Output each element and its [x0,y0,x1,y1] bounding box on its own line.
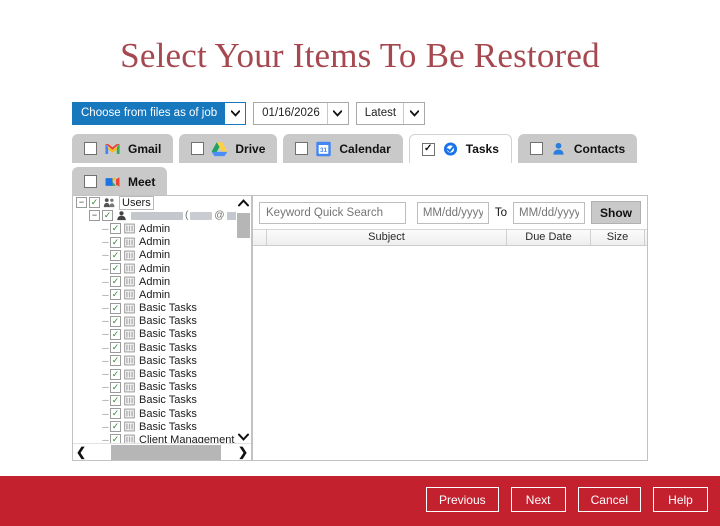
tree-connector-icon: ─ [101,316,110,326]
tree-item-checkbox[interactable]: ✓ [110,329,121,340]
task-list-icon [124,289,135,300]
tree-connector-icon: ─ [101,277,110,287]
tab-contacts-label: Contacts [574,142,625,156]
task-list-icon [124,369,135,380]
search-input[interactable] [259,202,406,224]
service-tabs-row-1: Gmail Drive 31 Calendar [72,134,652,163]
tree-item-label: Admin [139,276,170,288]
tree-connector-icon: ─ [101,409,110,419]
scroll-left-icon[interactable]: ❮ [73,445,89,459]
filter-bar: To Show [253,196,647,229]
tree-connector-icon: ─ [101,329,110,339]
tasks-icon [442,141,459,157]
next-button[interactable]: Next [511,487,566,512]
tree-item[interactable]: ─✓Basic Tasks [73,302,239,315]
tree-item-checkbox[interactable]: ✓ [110,395,121,406]
tree-children: ─✓Admin─✓Admin─✓Admin─✓Admin─✓Admin─✓Adm… [73,222,239,444]
tree-connector-icon: ─ [101,290,110,300]
items-list-panel: To Show Subject Due Date Size [252,195,648,461]
scroll-down-icon[interactable] [236,430,250,444]
tree-connector-icon: ─ [101,422,110,432]
tree-connector-icon: ─ [101,369,110,379]
tree-connector-icon: ─ [101,224,110,234]
show-button[interactable]: Show [591,201,641,224]
tree-connector-icon: ─ [101,264,110,274]
tab-meet[interactable]: Meet [72,167,167,196]
hscroll-track[interactable] [89,445,235,460]
tab-contacts-checkbox[interactable] [530,142,543,155]
hscroll-thumb[interactable] [111,445,221,460]
contacts-icon [550,141,567,157]
version-value: Latest [357,103,403,124]
tab-gmail-label: Gmail [128,142,161,156]
tab-calendar-label: Calendar [339,142,390,156]
folder-tree[interactable]: − ✓ Users − ✓ ( [73,196,239,444]
tree-item[interactable]: ─✓Admin [73,222,239,235]
task-list-icon [124,329,135,340]
tree-item-label: Basic Tasks [139,315,197,327]
tree-item[interactable]: ─✓Admin [73,249,239,262]
chevron-down-icon [327,103,348,124]
tree-connector-icon: ─ [101,303,110,313]
backup-date-value: 01/16/2026 [254,103,327,124]
task-list-icon [124,408,135,419]
column-header-select[interactable] [253,229,267,246]
tree-connector-icon: ─ [101,237,110,247]
column-header-subject[interactable]: Subject [267,229,507,246]
calendar-icon: 31 [315,141,332,157]
tree-node-account-checkbox[interactable]: ✓ [102,210,113,221]
users-group-icon [103,197,116,208]
tree-scroll-thumb[interactable] [237,213,250,238]
tab-tasks[interactable]: ✓ Tasks [409,134,512,163]
tree-node-account-label-redacted: ( @ [131,210,239,221]
task-list-icon [124,263,135,274]
task-list-icon [124,303,135,314]
tree-item-label: Basic Tasks [139,328,197,340]
drive-icon [211,141,228,157]
tree-item-checkbox[interactable]: ✓ [110,289,121,300]
chevron-down-icon [224,103,245,124]
scroll-right-icon[interactable]: ❯ [235,445,251,459]
tree-node-users-label: Users [119,196,154,210]
tree-item-label: Basic Tasks [139,302,197,314]
tree-item[interactable]: ─✓Basic Tasks [73,328,239,341]
tab-meet-checkbox[interactable] [84,175,97,188]
tree-node-account[interactable]: − ✓ ( @ [73,209,239,222]
tree-item-checkbox[interactable]: ✓ [110,342,121,353]
backup-date-select[interactable]: 01/16/2026 [253,102,349,125]
tree-item-label: Admin [139,223,170,235]
tree-node-users[interactable]: − ✓ Users [73,196,239,209]
task-list-icon [124,237,135,248]
tree-item-label: Basic Tasks [139,368,197,380]
task-list-icon [124,382,135,393]
tree-item[interactable]: ─✓Admin [73,275,239,288]
help-button[interactable]: Help [653,487,708,512]
svg-text:31: 31 [320,147,328,154]
tree-item-label: Admin [139,236,170,248]
tree-connector-icon: ─ [101,250,110,260]
tree-connector-icon: ─ [101,343,110,353]
tab-gmail[interactable]: Gmail [72,134,173,163]
tab-tasks-checkbox[interactable]: ✓ [422,143,435,156]
tree-connector-icon: ─ [101,356,110,366]
tree-item-label: Basic Tasks [139,355,197,367]
tree-item-checkbox[interactable]: ✓ [110,355,121,366]
scroll-up-icon[interactable] [236,196,250,210]
tree-item-checkbox[interactable]: ✓ [110,421,121,432]
tree-connector-icon: ─ [101,395,110,405]
date-to-input[interactable] [513,202,585,224]
list-column-headers: Subject Due Date Size [253,229,647,246]
tree-horizontal-scrollbar[interactable]: ❮ ❯ [73,443,251,460]
task-list-icon [124,395,135,406]
date-range-to-label: To [489,207,513,219]
restore-wizard-page: Select Your Items To Be Restored Choose … [0,0,720,526]
tree-item-checkbox[interactable]: ✓ [110,303,121,314]
folder-tree-panel: − ✓ Users − ✓ ( [72,195,252,461]
service-tabs: Gmail Drive 31 Calendar [72,134,652,196]
tree-item[interactable]: ─✓Admin [73,236,239,249]
tree-item[interactable]: ─✓Basic Tasks [73,420,239,433]
tab-drive-checkbox[interactable] [191,142,204,155]
tree-item-checkbox[interactable]: ✓ [110,223,121,234]
tree-vertical-scrollbar[interactable] [236,196,250,444]
meet-icon [104,174,121,190]
tree-item[interactable]: ─✓Basic Tasks [73,381,239,394]
wizard-footer: PreviousNextCancelHelp [0,476,720,526]
tree-item-label: Basic Tasks [139,421,197,433]
tab-meet-label: Meet [128,175,155,189]
task-list-icon [124,316,135,327]
tree-item-checkbox[interactable]: ✓ [110,263,121,274]
task-list-icon [124,250,135,261]
tree-item-checkbox[interactable]: ✓ [110,382,121,393]
user-icon [116,210,127,221]
page-title: Select Your Items To Be Restored [0,36,720,76]
tree-item-label: Basic Tasks [139,381,197,393]
tree-item[interactable]: ─✓Basic Tasks [73,341,239,354]
column-header-due-date[interactable]: Due Date [507,229,591,246]
tree-item[interactable]: ─✓Admin [73,288,239,301]
column-header-size[interactable]: Size [591,229,645,246]
task-list-icon [124,421,135,432]
chevron-down-icon [403,103,424,124]
service-tabs-row-2: Meet [72,167,652,196]
gmail-icon [104,141,121,157]
items-list-rows[interactable] [253,246,647,459]
tree-item[interactable]: ─✓Admin [73,262,239,275]
tree-item-checkbox[interactable]: ✓ [110,276,121,287]
expander-collapse-icon[interactable]: − [89,210,100,221]
tree-item-checkbox[interactable]: ✓ [110,316,121,327]
tree-node-users-checkbox[interactable]: ✓ [89,197,100,208]
source-selector-row: Choose from files as of job 01/16/2026 L… [72,102,425,125]
source-select[interactable]: Choose from files as of job [72,102,246,125]
tab-drive-label: Drive [235,142,265,156]
tree-item-checkbox[interactable]: ✓ [110,237,121,248]
tree-item[interactable]: ─✓Basic Tasks [73,315,239,328]
tree-item-checkbox[interactable]: ✓ [110,408,121,419]
tree-item[interactable]: ─✓Basic Tasks [73,394,239,407]
footer-button-group: PreviousNextCancelHelp [426,487,708,512]
source-select-value: Choose from files as of job [73,103,224,124]
previous-button[interactable]: Previous [426,487,499,512]
tree-item[interactable]: ─✓Basic Tasks [73,354,239,367]
tree-item[interactable]: ─✓Basic Tasks [73,367,239,380]
expander-collapse-icon[interactable]: − [76,197,87,208]
tree-item[interactable]: ─✓Basic Tasks [73,407,239,420]
version-select[interactable]: Latest [356,102,425,125]
tree-item-label: Basic Tasks [139,394,197,406]
tree-item-checkbox[interactable]: ✓ [110,369,121,380]
tree-item-label: Basic Tasks [139,408,197,420]
tree-item-label: Admin [139,289,170,301]
tree-connector-icon: ─ [101,382,110,392]
tab-drive[interactable]: Drive [179,134,277,163]
task-list-icon [124,276,135,287]
date-from-input[interactable] [417,202,489,224]
task-list-icon [124,355,135,366]
task-list-icon [124,342,135,353]
tab-gmail-checkbox[interactable] [84,142,97,155]
cancel-button[interactable]: Cancel [578,487,641,512]
tab-calendar-checkbox[interactable] [295,142,308,155]
tab-tasks-label: Tasks [466,142,499,156]
tree-item-label: Admin [139,249,170,261]
tree-item-checkbox[interactable]: ✓ [110,250,121,261]
tree-item-label: Admin [139,263,170,275]
tab-calendar[interactable]: 31 Calendar [283,134,402,163]
tree-item-label: Basic Tasks [139,342,197,354]
task-list-icon [124,223,135,234]
tab-contacts[interactable]: Contacts [518,134,637,163]
